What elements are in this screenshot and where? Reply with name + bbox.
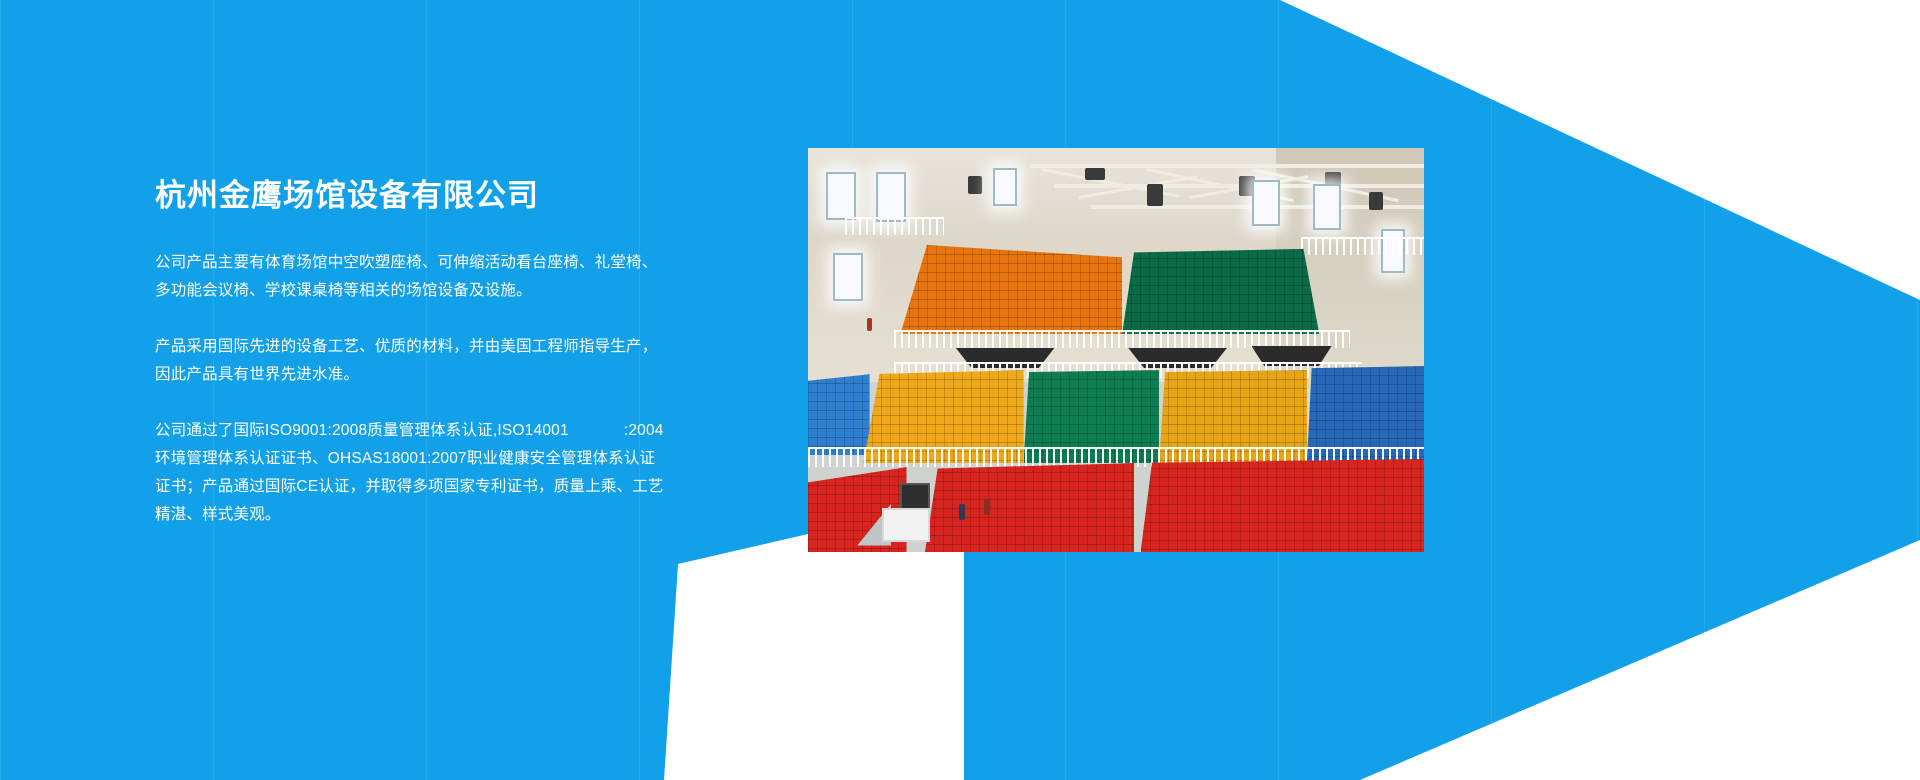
hall-window (993, 168, 1017, 206)
certification-text-part1: 公司通过了国际ISO9001:2008质量管理体系认证,ISO14001 (155, 422, 569, 439)
gymnasium-photo (808, 148, 1424, 552)
promo-banner: 杭州金鹰场馆设备有限公司 公司产品主要有体育场馆中空吹塑座椅、可伸缩活动看台座椅… (0, 0, 1920, 780)
person-walking (984, 499, 990, 515)
hall-window (876, 172, 906, 222)
basketball-backboard (882, 508, 930, 542)
seating-block-red-right (1141, 459, 1424, 552)
ceiling-speaker (1369, 192, 1383, 210)
seating-block-orange-upper (900, 245, 1122, 334)
mid-railing (894, 330, 1350, 348)
ceiling-speaker (1085, 168, 1105, 180)
seating-block-blue-middle (808, 374, 870, 455)
balcony-railing (845, 217, 944, 235)
hall-window (833, 253, 863, 301)
hall-window (826, 172, 856, 220)
person-walking (867, 318, 872, 331)
text-column: 杭州金鹰场馆设备有限公司 公司产品主要有体育场馆中空吹塑座椅、可伸缩活动看台座椅… (155, 178, 670, 529)
ceiling-speaker (968, 176, 982, 194)
hall-window (1252, 180, 1280, 226)
paragraph-technology: 产品采用国际先进的设备工艺、优质的材料，并由美国工程师指导生产，因此产品具有世界… (155, 333, 670, 389)
photo-canvas (808, 148, 1424, 552)
balcony-railing (1301, 237, 1424, 255)
company-title: 杭州金鹰场馆设备有限公司 (155, 178, 670, 215)
ceiling-speaker (1147, 184, 1163, 206)
paragraph-certifications: 公司通过了国际ISO9001:2008质量管理体系认证,ISO14001 :20… (155, 417, 670, 529)
hall-window (1313, 184, 1341, 230)
person-walking (959, 504, 965, 520)
seating-block-red-center (925, 463, 1134, 552)
seating-block-darkgreen-upper (1122, 249, 1319, 334)
paragraph-products: 公司产品主要有体育场馆中空吹塑座椅、可伸缩活动看台座椅、礼堂椅、多功能会议椅、学… (155, 249, 670, 305)
